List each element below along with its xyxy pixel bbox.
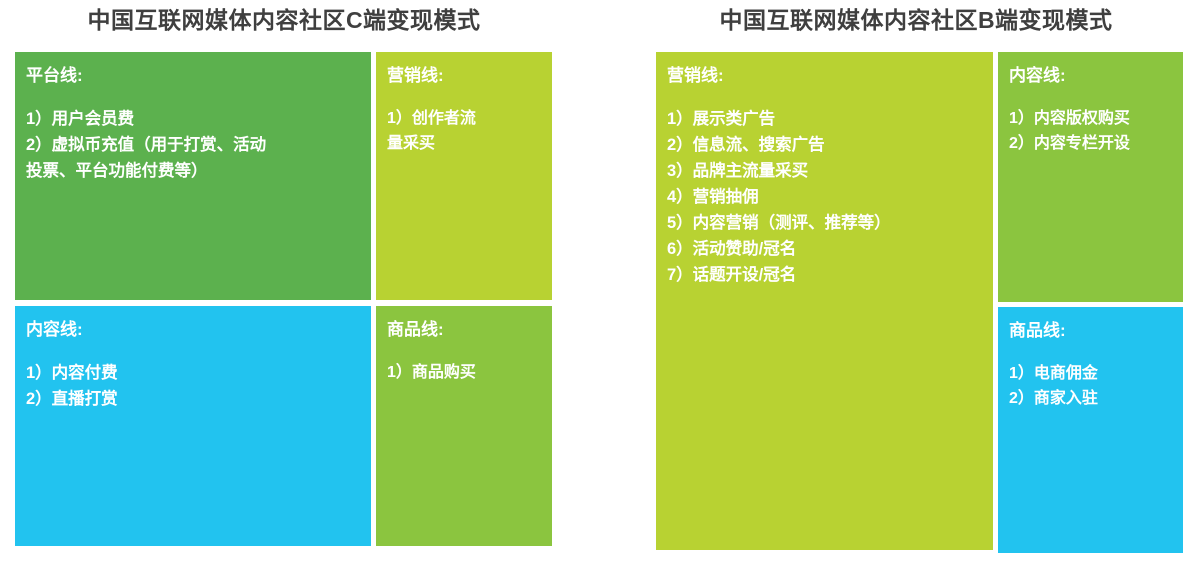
- list-item: 2）信息流、搜索广告: [667, 132, 982, 158]
- diagram-c-title: 中国互联网媒体内容社区C端变现模式: [0, 4, 568, 36]
- list-item: 7）话题开设/冠名: [667, 262, 982, 288]
- slide-canvas: 中国互联网媒体内容社区C端变现模式 平台线: 1）用户会员费 2）虚拟币充值（用…: [0, 0, 1200, 564]
- list-item: 1）内容付费: [26, 360, 360, 386]
- diagram-b-panel-goods[interactable]: 商品线: 1）电商佣金 2）商家入驻: [998, 307, 1183, 553]
- list-item: 投票、平台功能付费等）: [26, 158, 360, 184]
- list-item: 2）内容专栏开设: [1009, 131, 1172, 156]
- panel-list-content: 1）内容版权购买 2）内容专栏开设: [1009, 106, 1172, 156]
- panel-list-marketing: 1）展示类广告 2）信息流、搜索广告 3）品牌主流量采买 4）营销抽佣 5）内容…: [667, 106, 982, 288]
- panel-body: 营销线: 1）创作者流 量采买: [376, 52, 552, 164]
- list-item: 1）商品购买: [387, 360, 541, 385]
- diagram-b-panel-content[interactable]: 内容线: 1）内容版权购买 2）内容专栏开设: [998, 52, 1183, 302]
- diagram-c-panel-goods[interactable]: 商品线: 1）商品购买: [376, 306, 552, 546]
- panel-list-content: 1）内容付费 2）直播打赏: [26, 360, 360, 412]
- panel-body: 商品线: 1）商品购买: [376, 306, 552, 393]
- panel-list-platform: 1）用户会员费 2）虚拟币充值（用于打赏、活动 投票、平台功能付费等）: [26, 106, 360, 184]
- panel-heading-content: 内容线:: [26, 318, 360, 342]
- list-item: 1）内容版权购买: [1009, 106, 1172, 131]
- list-item: 1）展示类广告: [667, 106, 982, 132]
- panel-list-goods: 1）商品购买: [387, 360, 541, 385]
- panel-heading-goods: 商品线:: [387, 318, 541, 342]
- list-item: 3）品牌主流量采买: [667, 158, 982, 184]
- panel-body: 商品线: 1）电商佣金 2）商家入驻: [998, 307, 1183, 419]
- list-item: 2）商家入驻: [1009, 386, 1172, 411]
- panel-body: 内容线: 1）内容付费 2）直播打赏: [15, 306, 371, 420]
- diagram-c-panel-content[interactable]: 内容线: 1）内容付费 2）直播打赏: [15, 306, 371, 546]
- list-item: 1）创作者流: [387, 106, 541, 131]
- panel-heading-marketing: 营销线:: [667, 64, 982, 88]
- list-item: 2）直播打赏: [26, 386, 360, 412]
- diagram-c-panel-platform[interactable]: 平台线: 1）用户会员费 2）虚拟币充值（用于打赏、活动 投票、平台功能付费等）: [15, 52, 371, 300]
- diagram-c-panel-marketing[interactable]: 营销线: 1）创作者流 量采买: [376, 52, 552, 300]
- list-item: 1）电商佣金: [1009, 361, 1172, 386]
- panel-list-goods: 1）电商佣金 2）商家入驻: [1009, 361, 1172, 411]
- diagram-b-panel-marketing[interactable]: 营销线: 1）展示类广告 2）信息流、搜索广告 3）品牌主流量采买 4）营销抽佣…: [656, 52, 993, 550]
- list-item: 量采买: [387, 131, 541, 156]
- panel-list-marketing: 1）创作者流 量采买: [387, 106, 541, 156]
- panel-heading-platform: 平台线:: [26, 64, 360, 88]
- list-item: 2）虚拟币充值（用于打赏、活动: [26, 132, 360, 158]
- panel-body: 内容线: 1）内容版权购买 2）内容专栏开设: [998, 52, 1183, 164]
- list-item: 6）活动赞助/冠名: [667, 236, 982, 262]
- diagram-b-title: 中国互联网媒体内容社区B端变现模式: [632, 4, 1200, 36]
- panel-body: 平台线: 1）用户会员费 2）虚拟币充值（用于打赏、活动 投票、平台功能付费等）: [15, 52, 371, 192]
- list-item: 4）营销抽佣: [667, 184, 982, 210]
- panel-heading-marketing: 营销线:: [387, 64, 541, 88]
- panel-body: 营销线: 1）展示类广告 2）信息流、搜索广告 3）品牌主流量采买 4）营销抽佣…: [656, 52, 993, 296]
- panel-heading-content: 内容线:: [1009, 64, 1172, 88]
- list-item: 5）内容营销（测评、推荐等）: [667, 210, 982, 236]
- panel-heading-goods: 商品线:: [1009, 319, 1172, 343]
- list-item: 1）用户会员费: [26, 106, 360, 132]
